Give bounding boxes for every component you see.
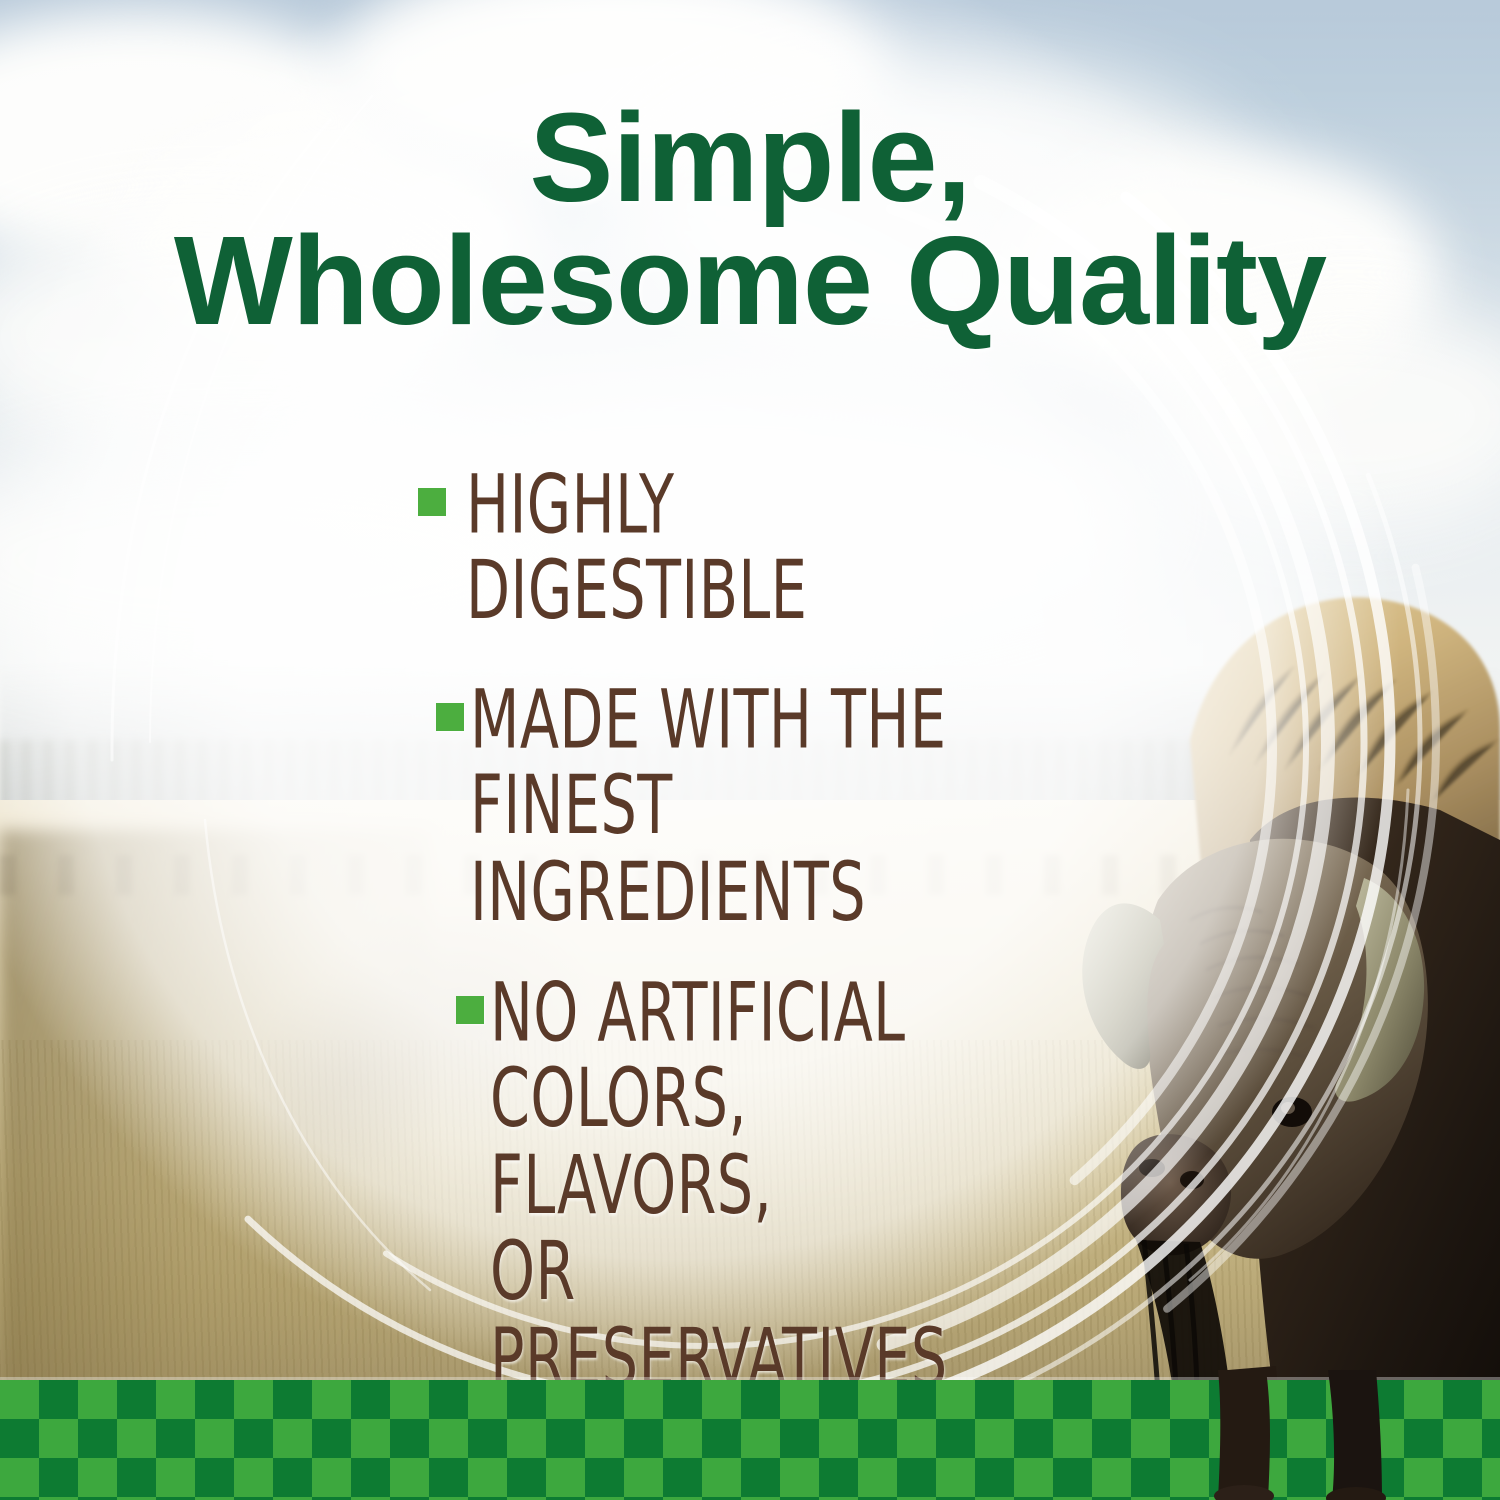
marketing-banner: Simple, Wholesome Quality HIGHLY DIGESTI…	[0, 0, 1500, 1500]
headline-line-1: Simple,	[0, 96, 1500, 219]
bison-nostril	[1139, 1159, 1165, 1177]
feature-item-no-artificial: NO ARTIFICIAL COLORS, FLAVORS, OR PRESER…	[456, 970, 1078, 1362]
green-square-bullet-icon	[456, 996, 484, 1024]
feature-text: MADE WITH THE FINEST INGREDIENTS	[470, 677, 993, 936]
feature-item-finest-ingredients: MADE WITH THE FINEST INGREDIENTS	[436, 677, 1078, 912]
green-square-bullet-icon	[436, 703, 464, 731]
bison-photo	[1040, 540, 1500, 1500]
checkerboard-footer	[0, 1380, 1500, 1500]
bison-eye-highlight	[1281, 1102, 1295, 1114]
feature-text: NO ARTIFICIAL COLORS, FLAVORS, OR PRESER…	[490, 970, 996, 1401]
feature-item-highly-digestible: HIGHLY DIGESTIBLE	[418, 462, 1078, 619]
bison-illustration	[1040, 540, 1500, 1500]
feature-text: HIGHLY DIGESTIBLE	[466, 462, 992, 635]
headline: Simple, Wholesome Quality	[0, 96, 1500, 343]
feature-list: HIGHLY DIGESTIBLE MADE WITH THE FINEST I…	[418, 462, 1078, 1362]
headline-line-2: Wholesome Quality	[0, 219, 1500, 342]
bison-nostril	[1180, 1171, 1204, 1189]
green-square-bullet-icon	[418, 488, 446, 516]
